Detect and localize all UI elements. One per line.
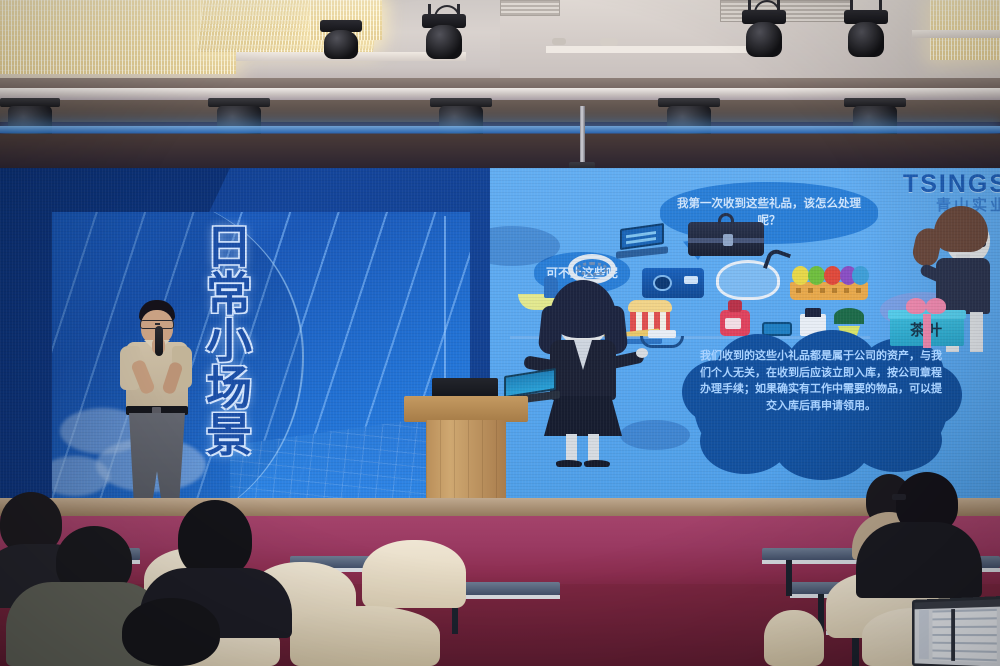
- tray-item: [648, 330, 676, 338]
- ceiling-downlight: [600, 38, 618, 46]
- belt-buckle: [152, 407, 161, 414]
- chandelier-frame: [912, 30, 1000, 38]
- cartoon-woman-center: [524, 280, 642, 466]
- laptop-content: [932, 609, 996, 663]
- title-char-2: 常: [206, 271, 252, 318]
- cloud-bubble: 我们收到的这些小礼品都是属于公司的资产，与我们个人无关，在收到后应该立即入库，按…: [682, 330, 960, 480]
- gift-laptop-icon: [616, 226, 668, 256]
- title-char-5: 景: [206, 412, 252, 459]
- slide-right: TSINGS 青山实业 我第一次收到这些礼品，该怎么处理呢？ 可不止这些呢: [490, 168, 1000, 498]
- gift-projector-icon: [716, 260, 780, 300]
- microphone-icon: [155, 326, 163, 356]
- desk-leg: [786, 560, 792, 596]
- glasses-bridge: [155, 323, 160, 325]
- conference-scene: 日 常 小 场 景 TSINGS 青山实业 我第一次收到这些礼品，该怎么处理呢？…: [0, 0, 1000, 666]
- camera-pole: [580, 106, 585, 164]
- chair: [362, 540, 466, 608]
- ceiling-vent: [500, 0, 560, 16]
- laptop-sidebar: [919, 609, 929, 658]
- cloud-bubble-text: 我们收到的这些小礼品都是属于公司的资产，与我们个人无关，在收到后应该立即入库，按…: [700, 348, 942, 414]
- podium-monitor: [432, 378, 498, 398]
- title-char-3: 小: [206, 318, 252, 365]
- led-glow-strip: [0, 126, 1000, 133]
- title-char-4: 场: [206, 365, 252, 412]
- audience-laptop[interactable]: [908, 598, 1000, 666]
- audience-shoulders: [856, 522, 982, 598]
- podium-top: [404, 396, 528, 422]
- gift-box-tea: 茶叶: [890, 302, 964, 346]
- upper-wall-band: [0, 134, 1000, 168]
- glasses-temple-icon: [892, 494, 906, 500]
- title-char-1: 日: [206, 224, 252, 271]
- par-can-light: [740, 10, 788, 58]
- ceiling-reveal: [546, 46, 766, 53]
- chair: [764, 610, 824, 666]
- laptop-titlebar: [915, 599, 1000, 609]
- laptop-panel: [951, 609, 955, 661]
- audience-head: [122, 598, 220, 666]
- audience-head: [178, 500, 252, 578]
- par-can-light: [318, 20, 364, 60]
- ceiling-downlight: [552, 38, 566, 45]
- gift-fruit-basket-icon: [790, 260, 868, 300]
- slide-left-title: 日 常 小 场 景: [198, 224, 260, 459]
- gift-briefcase-icon: [688, 222, 764, 256]
- cloud: [52, 456, 110, 496]
- par-can-light: [420, 14, 468, 60]
- chair: [290, 606, 440, 666]
- cartoon-woman-right: 茶叶: [912, 206, 1000, 366]
- par-can-light: [842, 10, 890, 58]
- logo-wordmark: TSINGS: [903, 172, 1000, 197]
- gift-camera-icon: [642, 268, 704, 298]
